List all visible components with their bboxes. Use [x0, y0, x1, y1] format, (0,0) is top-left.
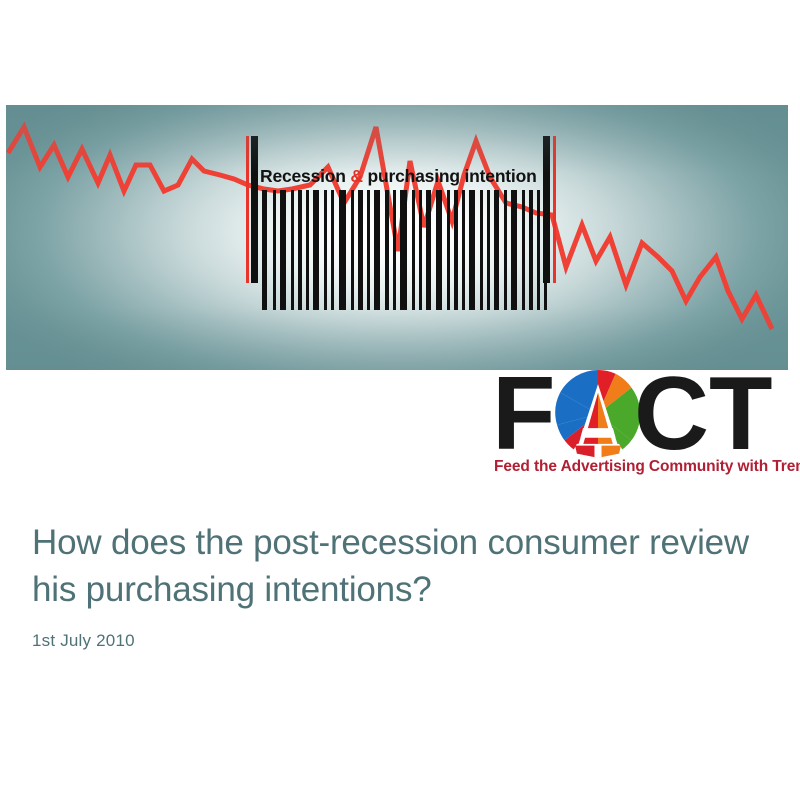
fact-logo-pie-a-icon [554, 370, 642, 458]
barcode-guard-left-black [251, 136, 258, 283]
barcode-headline-suffix: purchasing intention [363, 166, 537, 186]
barcode-guard-right-red [553, 136, 556, 283]
fact-logo-tagline: Feed the Advertising Community with Tren… [494, 458, 800, 476]
title-block: How does the post-recession consumer rev… [32, 520, 762, 651]
page-date: 1st July 2010 [32, 631, 762, 651]
fact-logo-letter-t: T [709, 362, 773, 466]
barcode-guard-left-red [246, 136, 249, 283]
barcode-headline-ampersand: & [350, 166, 362, 186]
fact-logo-letter-f: F [492, 362, 554, 466]
barcode-graphic: Recession & purchasing intention [246, 163, 558, 311]
barcode-headline: Recession & purchasing intention [260, 163, 537, 189]
fact-logo-letter-c: C [634, 362, 709, 466]
hero-banner: Recession & purchasing intention [6, 105, 788, 370]
page-title: How does the post-recession consumer rev… [32, 520, 762, 613]
fact-logo: F C T Feed the Advertising Community wit… [492, 366, 792, 478]
barcode-bars [260, 190, 548, 310]
barcode-headline-prefix: Recession [260, 166, 350, 186]
